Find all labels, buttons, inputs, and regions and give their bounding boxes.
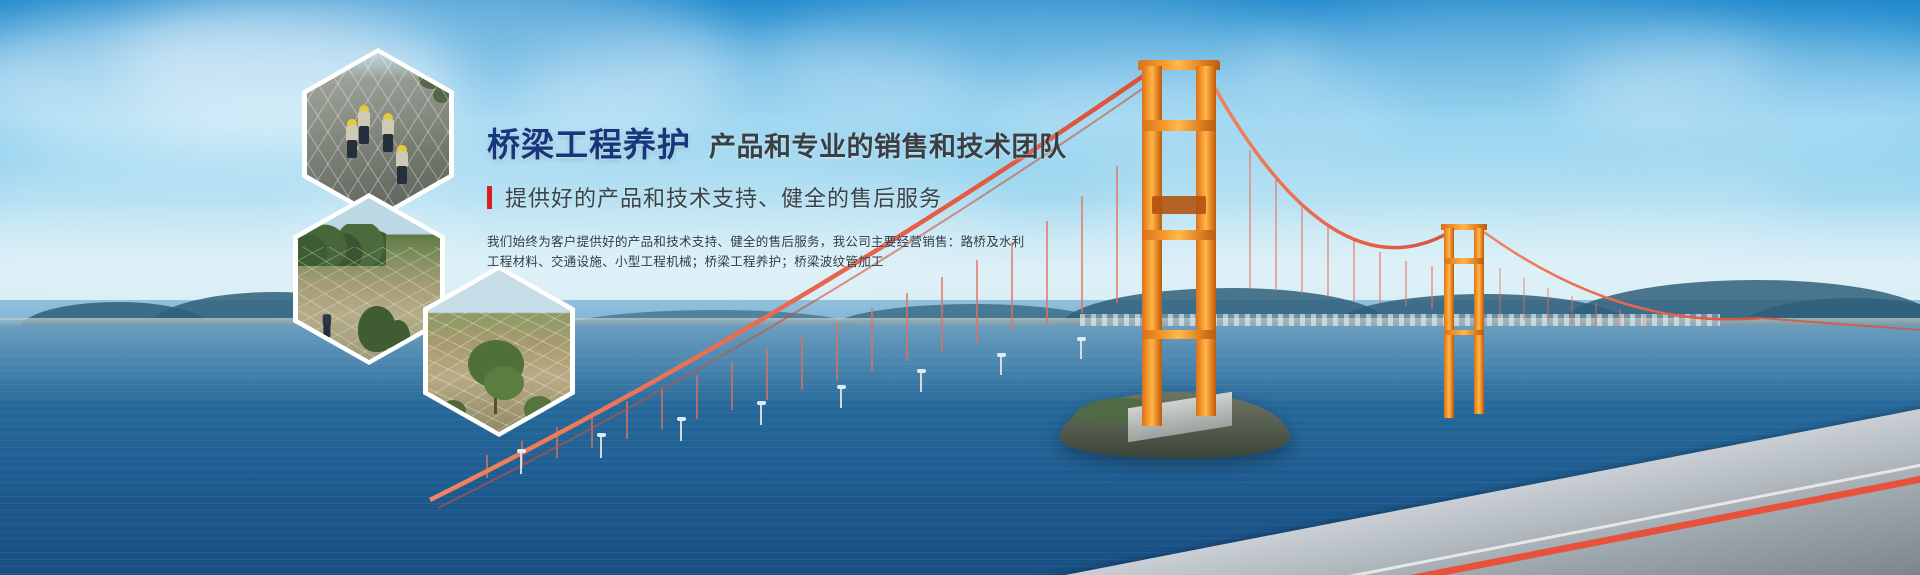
headline-secondary: 产品和专业的销售和技术团队 [709, 125, 1067, 164]
bridge-tower-crossbeam [1142, 230, 1216, 240]
description-line-2: 工程材料、交通设施、小型工程机械；桥梁工程养护；桥梁波纹管加工 [487, 252, 887, 272]
tree-crown [484, 366, 524, 400]
subheadline-text: 提供好的产品和技术支持、健全的售后服务 [505, 181, 942, 213]
hex-photo-image [298, 198, 440, 360]
bridge-far-tower-crossbeam [1444, 258, 1484, 264]
hex-photo-slope-with-tree-mesh[interactable] [423, 265, 575, 437]
promo-banner: 桥梁工程养护 产品和专业的销售和技术团队 提供好的产品和技术支持、健全的售后服务… [0, 0, 1920, 575]
subheadline-row: 提供好的产品和技术支持、健全的售后服务 [487, 181, 1047, 213]
bush [386, 320, 410, 352]
description-line-1: 我们始终为客户提供好的产品和技术支持、健全的售后服务，我公司主要经营销售：路桥及… [487, 232, 887, 252]
worker-legs [383, 134, 393, 152]
bush [440, 400, 466, 422]
hex-photo-image [428, 270, 570, 432]
bridge-lamp [600, 436, 602, 458]
bridge-far-tower-leg [1474, 228, 1484, 414]
bridge-lamp [680, 420, 682, 441]
worker-legs [347, 140, 357, 158]
worker-legs [359, 126, 369, 144]
suspension-bridge [0, 0, 1920, 575]
worker-legs [397, 166, 407, 184]
bridge-lamp [840, 388, 842, 408]
banner-copy: 桥梁工程养护 产品和专业的销售和技术团队 提供好的产品和技术支持、健全的售后服务… [487, 118, 1047, 272]
bridge-lamp [1000, 356, 1002, 375]
bridge-tower-crossbeam [1142, 330, 1216, 339]
headline-row: 桥梁工程养护 产品和专业的销售和技术团队 [487, 118, 1047, 166]
bridge-tower-leg [1196, 66, 1216, 416]
headline-primary: 桥梁工程养护 [487, 118, 691, 166]
worker-legs [323, 325, 330, 338]
bridge-far-tower-leg [1444, 228, 1454, 418]
hex-photo-image [307, 53, 449, 215]
bridge-lamp [1080, 340, 1082, 359]
description-paragraph: 我们始终为客户提供好的产品和技术支持、健全的售后服务，我公司主要经营销售：路桥及… [487, 232, 887, 272]
bridge-lamp [920, 372, 922, 392]
accent-bar [487, 186, 492, 209]
bridge-tower-plaque [1152, 196, 1206, 214]
wire-mesh-overlay [307, 53, 449, 215]
hex-photo-frame [423, 265, 575, 437]
bridge-lamp [520, 452, 522, 474]
bridge-lamp [760, 404, 762, 425]
bridge-tower-crossbeam [1142, 120, 1216, 131]
bush [524, 396, 554, 422]
bridge-far-tower-crossbeam [1444, 330, 1484, 335]
